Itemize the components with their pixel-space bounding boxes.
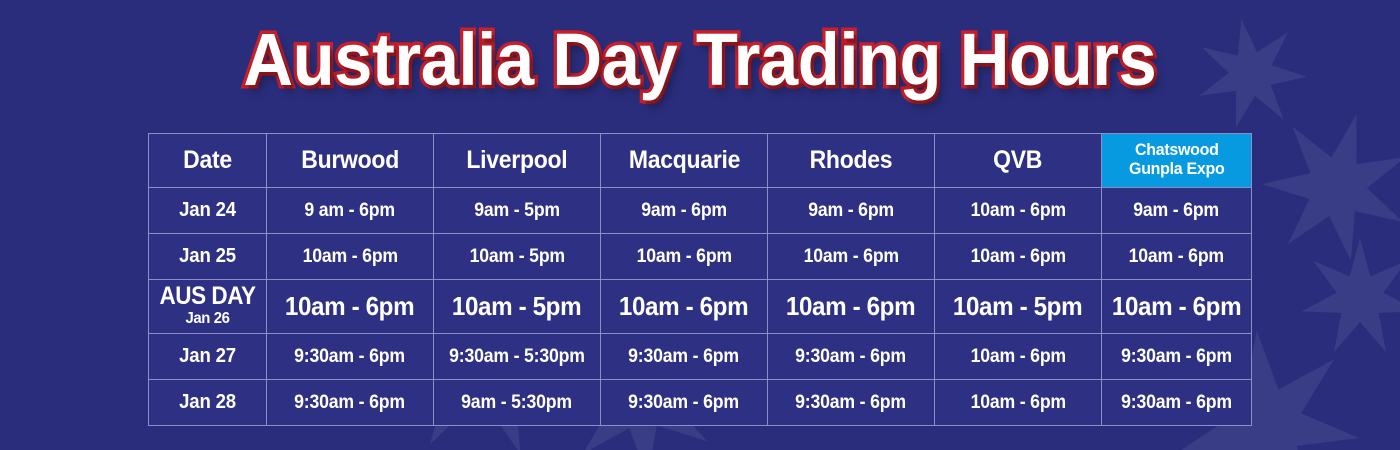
hours-label: 9am - 5:30pm xyxy=(462,392,573,414)
page-title: Australia Day Trading Hours xyxy=(244,22,1157,99)
table-row: Jan 2510am - 6pm10am - 5pm10am - 6pm10am… xyxy=(149,234,1252,280)
trading-hours-table: Date Burwood Liverpool Macquarie Rhodes xyxy=(148,133,1252,426)
table-header-row: Date Burwood Liverpool Macquarie Rhodes xyxy=(149,134,1252,188)
column-header-rhodes-label: Rhodes xyxy=(810,146,893,175)
column-header-date-label: Date xyxy=(183,146,232,175)
hours-label: 10am - 6pm xyxy=(970,200,1065,222)
column-header-liverpool: Liverpool xyxy=(434,134,601,188)
hours-label: 10am - 6pm xyxy=(970,392,1065,414)
hours-label: 9 am - 6pm xyxy=(305,200,395,222)
table-cell-hours-rhodes: 9:30am - 6pm xyxy=(768,380,935,426)
hours-label: 10am - 6pm xyxy=(970,246,1065,268)
hours-label: 10am - 6pm xyxy=(970,346,1065,368)
table-cell-hours-qvb: 10am - 6pm xyxy=(935,334,1102,380)
hours-label: 9:30am - 6pm xyxy=(295,346,406,368)
table-cell-hours-liverpool: 9am - 5:30pm xyxy=(434,380,601,426)
hours-label: 10am - 5pm xyxy=(452,291,581,322)
hours-label: 9:30am - 6pm xyxy=(629,392,740,414)
table-cell-hours-burwood: 9:30am - 6pm xyxy=(267,334,434,380)
hours-label: 10am - 6pm xyxy=(636,246,731,268)
hours-label: 9am - 5pm xyxy=(474,200,560,222)
hours-label: 9am - 6pm xyxy=(641,200,727,222)
table-cell-hours-qvb: 10am - 6pm xyxy=(935,234,1102,280)
hours-label: 9:30am - 6pm xyxy=(1121,392,1232,414)
table-body: Jan 249 am - 6pm9am - 5pm9am - 6pm9am - … xyxy=(149,188,1252,426)
hours-label: 10am - 6pm xyxy=(1112,291,1241,322)
hours-label: 10am - 5pm xyxy=(469,246,564,268)
hours-label: 10am - 6pm xyxy=(619,291,748,322)
table-cell-date-label: Jan 28 xyxy=(179,391,236,414)
hours-label: 9:30am - 6pm xyxy=(629,346,740,368)
column-header-chatswood-label: ChatswoodGunpla Expo xyxy=(1129,140,1224,178)
hours-label: 9am - 6pm xyxy=(1134,200,1220,222)
table-cell-date-label: Jan 27 xyxy=(179,345,236,368)
table-cell-hours-liverpool: 9am - 5pm xyxy=(434,188,601,234)
hours-label: 10am - 5pm xyxy=(953,291,1082,322)
table-cell-hours-qvb: 10am - 5pm xyxy=(935,280,1102,334)
table-cell-hours-macquarie: 9am - 6pm xyxy=(601,188,768,234)
table-cell-hours-burwood: 9:30am - 6pm xyxy=(267,380,434,426)
trading-hours-table-container: Date Burwood Liverpool Macquarie Rhodes xyxy=(148,133,1252,426)
table-row: Jan 249 am - 6pm9am - 5pm9am - 6pm9am - … xyxy=(149,188,1252,234)
table-cell-hours-macquarie: 9:30am - 6pm xyxy=(601,380,768,426)
table-cell-hours-chatswood-gunpla-expo: 9am - 6pm xyxy=(1102,188,1252,234)
column-header-burwood: Burwood xyxy=(267,134,434,188)
table-row: AUS DAYJan 2610am - 6pm10am - 5pm10am - … xyxy=(149,280,1252,334)
table-cell-date: Jan 28 xyxy=(149,380,267,426)
table-cell-hours-chatswood-gunpla-expo: 10am - 6pm xyxy=(1102,234,1252,280)
hours-label: 10am - 6pm xyxy=(302,246,397,268)
hours-label: 10am - 6pm xyxy=(786,291,915,322)
table-cell-hours-burwood: 10am - 6pm xyxy=(267,280,434,334)
column-header-liverpool-label: Liverpool xyxy=(466,146,567,175)
table-cell-hours-chatswood-gunpla-expo: 10am - 6pm xyxy=(1102,280,1252,334)
table-cell-hours-rhodes: 9am - 6pm xyxy=(768,188,935,234)
table-cell-hours-macquarie: 10am - 6pm xyxy=(601,280,768,334)
table-cell-hours-rhodes: 9:30am - 6pm xyxy=(768,334,935,380)
column-header-date: Date xyxy=(149,134,267,188)
column-header-qvb-label: QVB xyxy=(993,146,1042,175)
hours-label: 10am - 6pm xyxy=(1129,246,1224,268)
hours-label: 9am - 6pm xyxy=(808,200,894,222)
aus-day-label: AUS DAY xyxy=(155,284,260,309)
table-cell-date: Jan 25 xyxy=(149,234,267,280)
column-header-chatswood-gunpla-expo: ChatswoodGunpla Expo xyxy=(1102,134,1252,188)
table-row: Jan 279:30am - 6pm9:30am - 5:30pm9:30am … xyxy=(149,334,1252,380)
commonwealth-star-right-edge xyxy=(1300,238,1400,358)
column-header-macquarie-label: Macquarie xyxy=(628,146,739,175)
table-cell-hours-burwood: 9 am - 6pm xyxy=(267,188,434,234)
hours-label: 10am - 6pm xyxy=(285,291,414,322)
column-header-macquarie: Macquarie xyxy=(601,134,768,188)
table-cell-hours-rhodes: 10am - 6pm xyxy=(768,234,935,280)
table-cell-hours-liverpool: 9:30am - 5:30pm xyxy=(434,334,601,380)
table-cell-date-label: Jan 24 xyxy=(179,199,236,222)
column-header-rhodes: Rhodes xyxy=(768,134,935,188)
banner-title-container: Australia Day Trading Hours xyxy=(0,22,1400,99)
hours-label: 9:30am - 6pm xyxy=(796,346,907,368)
australia-day-trading-hours-banner: Australia Day Trading Hours Date Burwood… xyxy=(0,0,1400,450)
table-cell-hours-liverpool: 10am - 5pm xyxy=(434,280,601,334)
hours-label: 9:30am - 6pm xyxy=(1121,346,1232,368)
hours-label: 9:30am - 6pm xyxy=(295,392,406,414)
column-header-burwood-label: Burwood xyxy=(301,146,399,175)
table-cell-date: AUS DAYJan 26 xyxy=(149,280,267,334)
table-cell-hours-chatswood-gunpla-expo: 9:30am - 6pm xyxy=(1102,380,1252,426)
column-header-chatswood-line2: Gunpla Expo xyxy=(1129,159,1224,178)
table-cell-hours-chatswood-gunpla-expo: 9:30am - 6pm xyxy=(1102,334,1252,380)
table-header: Date Burwood Liverpool Macquarie Rhodes xyxy=(149,134,1252,188)
table-cell-hours-macquarie: 10am - 6pm xyxy=(601,234,768,280)
commonwealth-star-mid-right xyxy=(1245,95,1400,279)
table-cell-date: Jan 24 xyxy=(149,188,267,234)
table-cell-hours-qvb: 10am - 6pm xyxy=(935,380,1102,426)
table-cell-hours-burwood: 10am - 6pm xyxy=(267,234,434,280)
table-cell-date-label: Jan 25 xyxy=(179,245,236,268)
table-cell-hours-liverpool: 10am - 5pm xyxy=(434,234,601,280)
table-cell-hours-macquarie: 9:30am - 6pm xyxy=(601,334,768,380)
table-cell-hours-rhodes: 10am - 6pm xyxy=(768,280,935,334)
hours-label: 9:30am - 6pm xyxy=(796,392,907,414)
table-cell-hours-qvb: 10am - 6pm xyxy=(935,188,1102,234)
aus-day-date-label: Jan 26 xyxy=(153,309,262,328)
table-row: Jan 289:30am - 6pm9am - 5:30pm9:30am - 6… xyxy=(149,380,1252,426)
column-header-chatswood-line1: Chatswood xyxy=(1135,140,1219,159)
column-header-qvb: QVB xyxy=(935,134,1102,188)
hours-label: 10am - 6pm xyxy=(803,246,898,268)
table-cell-date: Jan 27 xyxy=(149,334,267,380)
hours-label: 9:30am - 5:30pm xyxy=(449,346,585,368)
